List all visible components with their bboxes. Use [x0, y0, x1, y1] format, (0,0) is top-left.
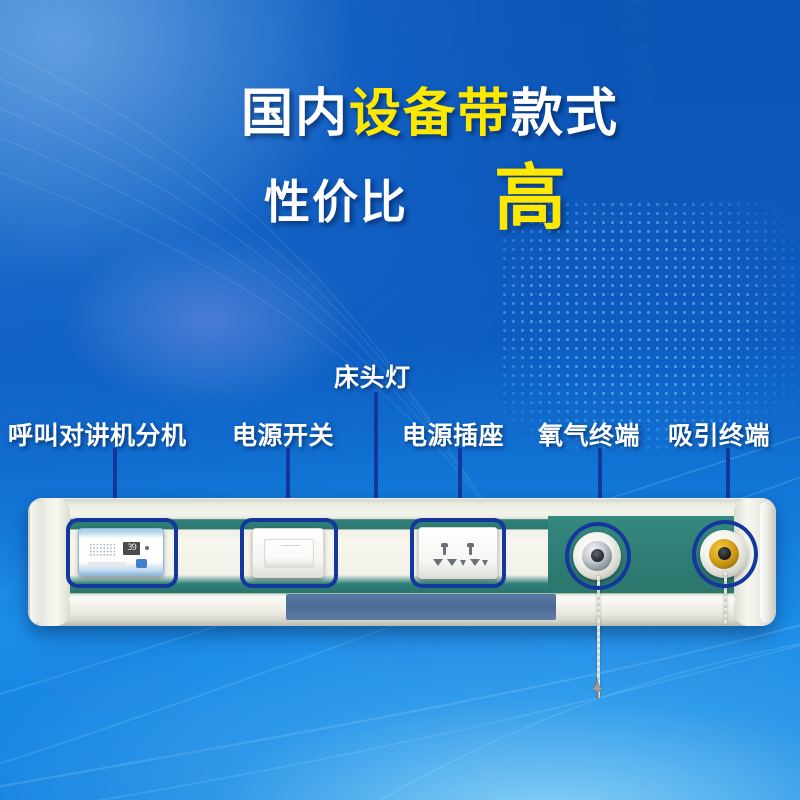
- headline-line-2: 性价比 高: [0, 165, 800, 233]
- callout-label-intercom: 呼叫对讲机分机: [8, 416, 187, 452]
- highlight-circle-oxygen: [565, 522, 631, 590]
- callout-label-power-switch: 电源开关: [232, 416, 334, 452]
- highlight-box-power-switch: [240, 518, 338, 588]
- bottom-light-glow: [0, 600, 800, 800]
- headline-line-2-white: 性价比: [264, 166, 408, 232]
- headline-line-1-yellow: 设备带: [349, 85, 511, 143]
- callout-label-bed-lamp: 床头灯: [334, 358, 411, 394]
- highlight-box-intercom: [66, 518, 178, 588]
- highlight-box-power-socket: [410, 518, 506, 588]
- headline-line-1-white-a: 国内: [241, 85, 349, 143]
- headline-line-1: 国内设备带款式: [0, 88, 800, 140]
- cord-plug-icon: [590, 678, 604, 704]
- callout-label-suction: 吸引终端: [668, 416, 770, 452]
- headline-line-1-white-b: 款式: [511, 85, 619, 143]
- headline-line-2-yellow: 高: [494, 165, 566, 233]
- highlight-circle-suction: [692, 520, 758, 588]
- panel-end-cap-left: [28, 498, 70, 626]
- panel-lip-band: [286, 594, 556, 620]
- callout-label-oxygen: 氧气终端: [538, 416, 640, 452]
- product-banner: 国内设备带款式 性价比 高 呼叫对讲机分机 电源开关 床头灯 电源插座 氧气终端…: [0, 0, 800, 800]
- callout-label-power-socket: 电源插座: [402, 416, 504, 452]
